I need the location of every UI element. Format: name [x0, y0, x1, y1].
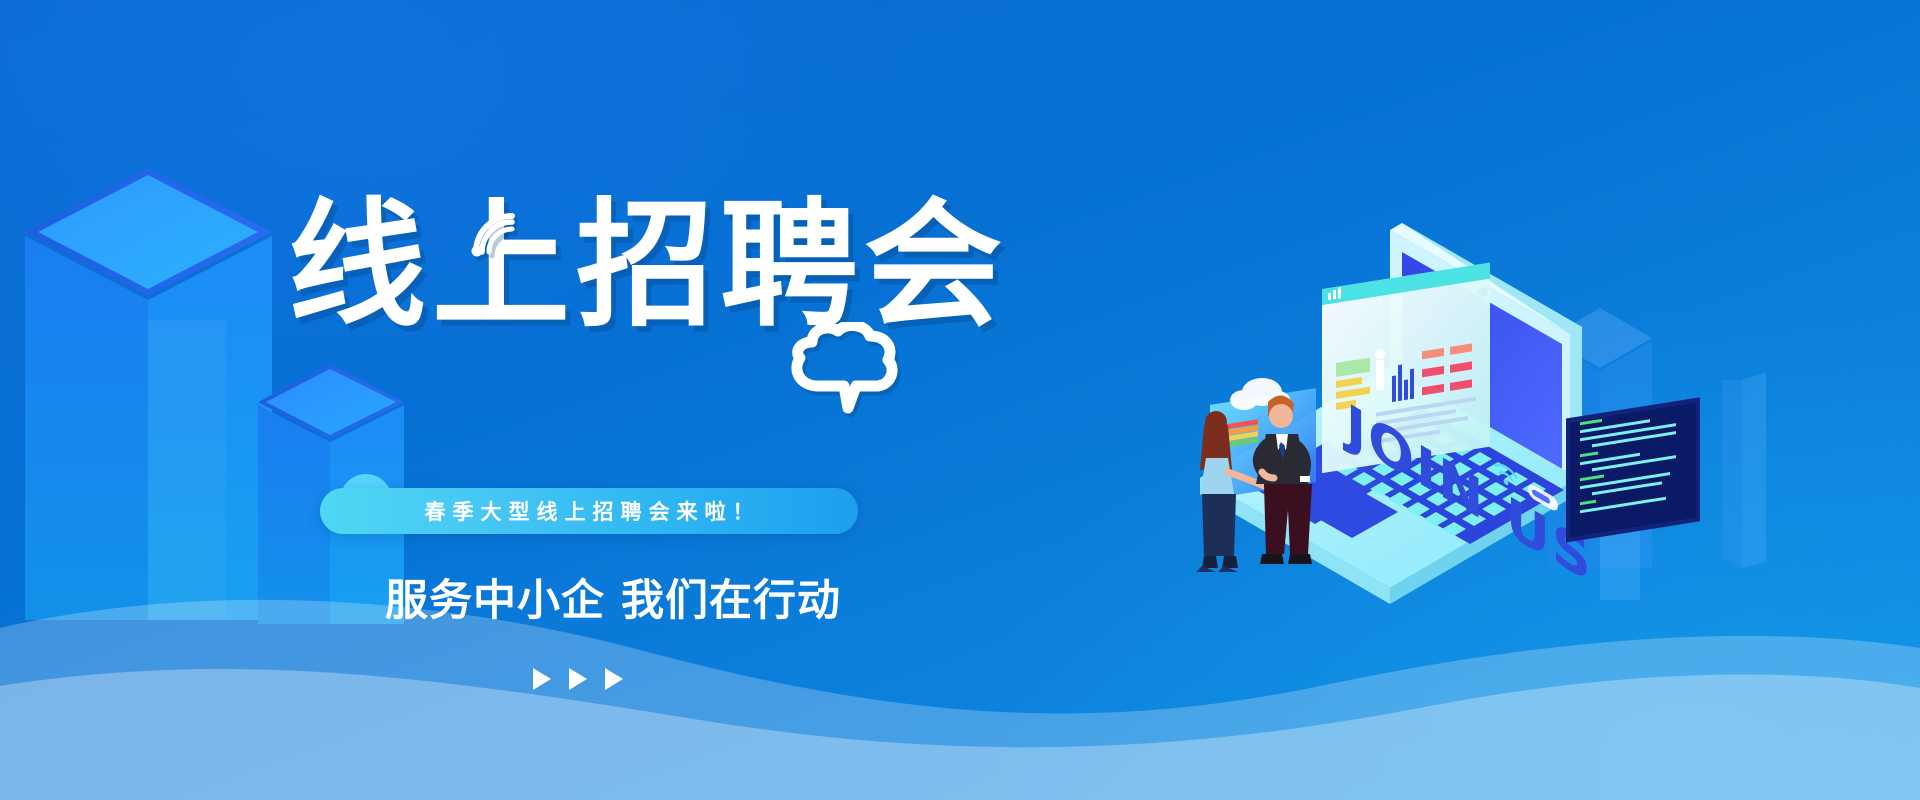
online-job-fair-banner: 线上招聘会 春季大型线上招聘会来啦！ 服务中小企 我们在行动 — [0, 0, 1920, 800]
wifi-signal-icon — [466, 206, 522, 262]
cloud-bubble-icon — [782, 322, 904, 414]
wave-decoration — [0, 500, 1920, 800]
page-title: 线上招聘会 — [288, 186, 1078, 346]
